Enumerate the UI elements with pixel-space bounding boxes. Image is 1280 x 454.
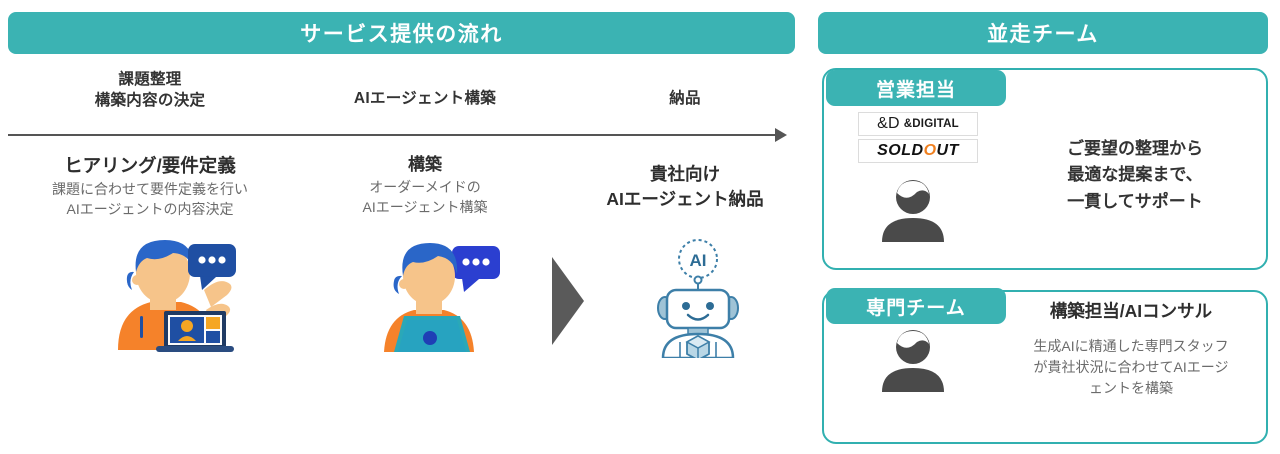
soldout-accent-letter: O	[924, 142, 937, 159]
and-digital-text: &DIGITAL	[904, 118, 959, 130]
flow-phase-label-2-line1: AIエージェント構築	[310, 89, 540, 110]
logo-and-digital: &D &DIGITAL	[858, 112, 978, 136]
flow-phase-label-1: 課題整理 構築内容の決定	[35, 70, 265, 112]
flow-phase-label-3: 納品	[585, 89, 785, 110]
experts-description-line1: 生成AIに精通した専門スタッフ	[1000, 336, 1262, 357]
sales-support-description: ご要望の整理から 最適な提案まで、 一貫してサポート	[1010, 136, 1260, 215]
svg-text:AI: AI	[690, 251, 707, 270]
section-header-service-flow: サービス提供の流れ	[8, 12, 795, 54]
ai-robot-illustration: AI	[650, 238, 746, 363]
flow-stage-1: ヒアリング/要件定義 課題に合わせて要件定義を行い AIエージェントの内容決定	[20, 154, 280, 220]
service-flow-panel: 課題整理 構築内容の決定 AIエージェント構築 納品 ヒアリング/要件定義 課題…	[0, 62, 800, 454]
flow-stage-3-title-line2: AIエージェント納品	[580, 187, 790, 212]
flow-stage-3-title-line1: 貴社向け	[580, 162, 790, 187]
logo-soldout: SOLDOUT	[858, 139, 978, 163]
person-video-call-illustration	[88, 238, 238, 358]
flow-stage-3-title: 貴社向け AIエージェント納品	[580, 162, 790, 211]
sales-support-description-line1: ご要望の整理から	[1010, 136, 1260, 162]
flow-phase-label-2: AIエージェント構築	[310, 89, 540, 110]
experts-role-title: 構築担当/AIコンサル	[1000, 298, 1262, 323]
flow-stage-2-desc: オーダーメイドの AIエージェント構築	[315, 178, 535, 218]
flow-phase-label-1-line1: 課題整理	[35, 70, 265, 91]
soldout-text-before: SOLD	[877, 142, 923, 159]
flow-phase-label-1-line2: 構築内容の決定	[35, 91, 265, 112]
soldout-text-after: UT	[937, 142, 959, 159]
expert-person-silhouette-icon	[876, 330, 950, 397]
and-digital-mark-icon: &D	[877, 115, 900, 133]
flow-phase-label-3-line1: 納品	[585, 89, 785, 110]
person-laptop-illustration	[376, 240, 506, 357]
flow-stage-1-desc: 課題に合わせて要件定義を行い AIエージェントの内容決定	[20, 180, 280, 220]
experts-description-line3: ェントを構築	[1000, 378, 1262, 399]
sales-person-silhouette-icon	[876, 180, 950, 247]
sales-support-description-line3: 一貫してサポート	[1010, 189, 1260, 215]
partner-logo-stack: &D &DIGITAL SOLDOUT	[858, 112, 978, 166]
flow-stage-1-title: ヒアリング/要件定義	[20, 154, 280, 178]
flow-stage-2-title: 構築	[315, 154, 535, 176]
team-card-experts-tab: 専門チーム	[826, 288, 1006, 324]
flow-stage-2-desc-line1: オーダーメイドの	[315, 178, 535, 198]
flow-stage-2: 構築 オーダーメイドの AIエージェント構築	[315, 154, 535, 218]
timeline-axis-line	[8, 134, 778, 136]
flow-stage-1-desc-line2: AIエージェントの内容決定	[20, 200, 280, 220]
experts-description: 生成AIに精通した専門スタッフ が貴社状況に合わせてAIエージ ェントを構築	[1000, 336, 1262, 399]
flow-stage-2-desc-line2: AIエージェント構築	[315, 198, 535, 218]
experts-description-line2: が貴社状況に合わせてAIエージ	[1000, 357, 1262, 378]
flow-stage-1-desc-line1: 課題に合わせて要件定義を行い	[20, 180, 280, 200]
timeline-arrow-icon	[775, 128, 787, 142]
team-card-sales-tab: 営業担当	[826, 70, 1006, 106]
section-header-support-team: 並走チーム	[818, 12, 1268, 54]
sales-support-description-line2: 最適な提案まで、	[1010, 162, 1260, 188]
flow-wedge-arrow-icon	[552, 257, 584, 345]
flow-stage-3: 貴社向け AIエージェント納品	[580, 162, 790, 211]
